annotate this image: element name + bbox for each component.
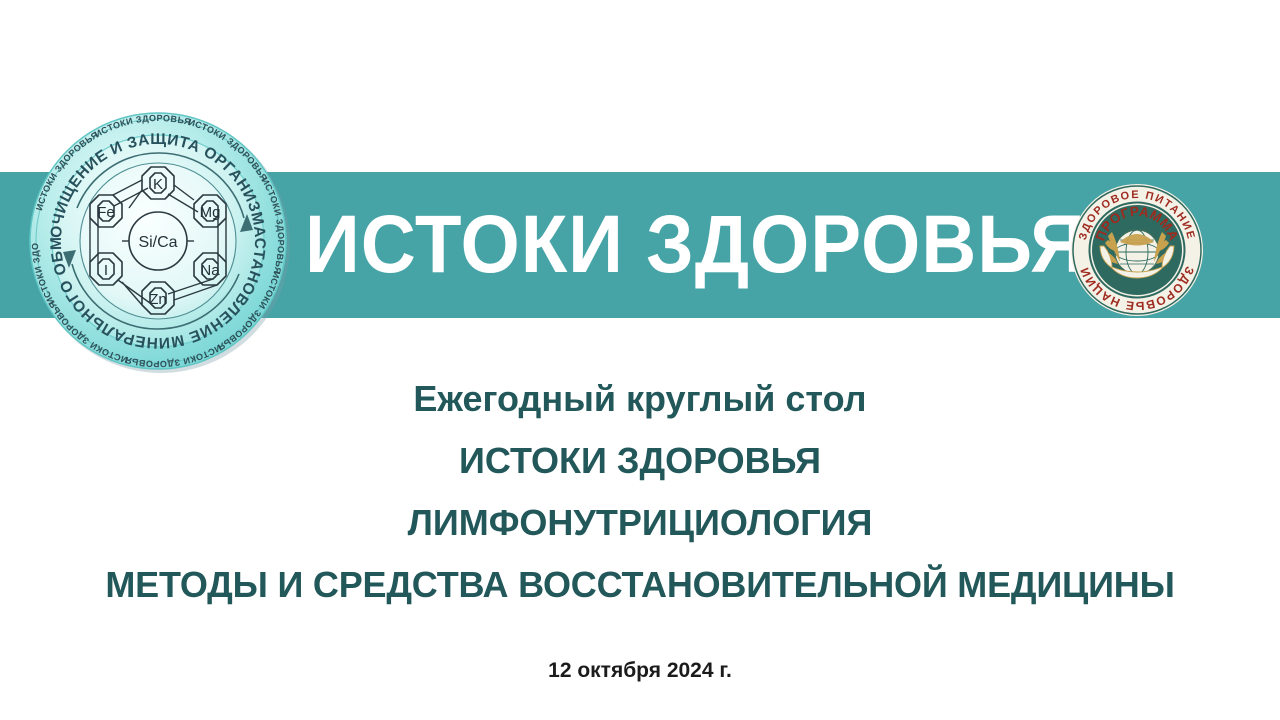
body-line-topic: ЛИМФОНУТРИЦИОЛОГИЯ (0, 500, 1280, 546)
left-logo-emblem: ИСТОКИ ЗДОРОВЬЯ ИСТОКИ ЗДОРОВЬЯ ИСТОКИ З… (22, 90, 294, 380)
presentation-slide: ИСТОКИ ЗДОРОВЬЯ (0, 0, 1280, 720)
element-label-na: Na (200, 262, 220, 279)
body-line-subtitle: МЕТОДЫ И СРЕДСТВА ВОССТАНОВИТЕЛЬНОЙ МЕДИ… (0, 562, 1280, 608)
left-logo-svg: ИСТОКИ ЗДОРОВЬЯ ИСТОКИ ЗДОРОВЬЯ ИСТОКИ З… (22, 90, 294, 380)
slide-body-text: Ежегодный круглый стол ИСТОКИ ЗДОРОВЬЯ Л… (0, 376, 1280, 624)
body-line-event-type: Ежегодный круглый стол (0, 376, 1280, 422)
body-line-brand: ИСТОКИ ЗДОРОВЬЯ (0, 438, 1280, 484)
globe-icon (1115, 230, 1159, 274)
right-logo-emblem: ПРОГРАММА ЗДОРОВОЕ ПИТАНИЕ ЗДОРОВЬЕ НАЦИ… (1064, 180, 1210, 320)
right-logo-svg: ПРОГРАММА ЗДОРОВОЕ ПИТАНИЕ ЗДОРОВЬЕ НАЦИ… (1064, 180, 1210, 320)
page-title: ИСТОКИ ЗДОРОВЬЯ (305, 190, 993, 300)
element-label-fe: Fe (97, 204, 115, 221)
element-label-center: Si/Ca (138, 234, 177, 251)
element-label-mg: Mg (200, 204, 221, 221)
element-label-k: K (153, 176, 163, 193)
element-label-zn: Zn (149, 291, 167, 308)
event-date: 12 октября 2024 г. (0, 658, 1280, 684)
element-label-i: I (104, 262, 108, 279)
